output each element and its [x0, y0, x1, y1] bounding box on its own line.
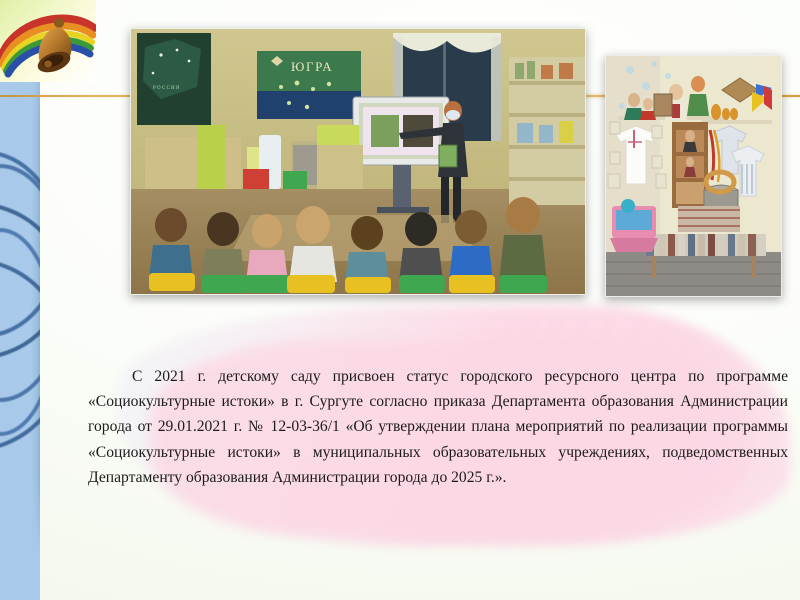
band-fade-bottom: [0, 480, 40, 600]
sidebar-decoration: [0, 0, 40, 600]
concentric-rings-icon: [0, 150, 40, 450]
bell-icon: [26, 16, 78, 74]
bell-rainbow-logo: [0, 0, 96, 82]
slide-paragraph: С 2021 г. детскому саду присвоен статус …: [88, 364, 788, 491]
slide-canvas: Р О С С И Я ЮГРА: [0, 0, 800, 600]
svg-text:Р О С С И Я: Р О С С И Я: [153, 86, 180, 91]
svg-text:ЮГРА: ЮГРА: [291, 59, 333, 74]
folk-culture-corner-photo: [605, 55, 782, 297]
classroom-presentation-photo: Р О С С И Я ЮГРА: [130, 28, 586, 295]
